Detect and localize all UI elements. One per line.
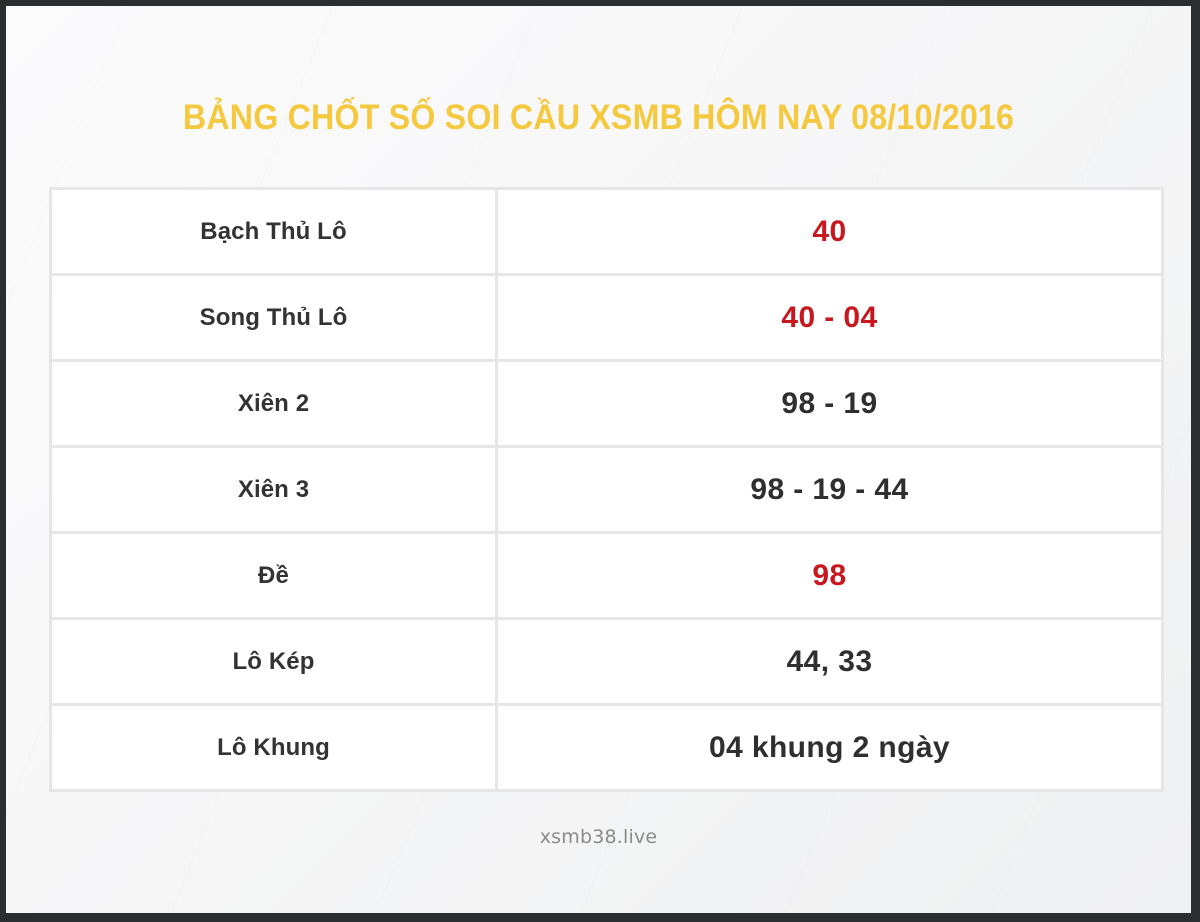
page-frame: BẢNG CHỐT SỐ SOI CẦU XSMB HÔM NAY 08/10/… [0,0,1200,922]
table-row: Đề98 [51,533,1163,619]
table-row: Xiên 398 - 19 - 44 [51,447,1163,533]
prediction-value-cell: 40 [497,189,1163,275]
table-row: Lô Khung04 khung 2 ngày [51,705,1163,791]
prediction-label-cell: Bạch Thủ Lô [51,189,497,275]
prediction-label-cell: Đề [51,533,497,619]
prediction-value-cell: 04 khung 2 ngày [497,705,1163,791]
page-canvas: BẢNG CHỐT SỐ SOI CẦU XSMB HÔM NAY 08/10/… [6,6,1191,913]
site-watermark: xsmb38.live [6,826,1191,848]
table-row: Xiên 298 - 19 [51,361,1163,447]
prediction-table-body: Bạch Thủ Lô40Song Thủ Lô40 - 04Xiên 298 … [51,189,1163,791]
prediction-value-cell: 98 [497,533,1163,619]
prediction-value-cell: 44, 33 [497,619,1163,705]
prediction-label-cell: Xiên 2 [51,361,497,447]
prediction-value-cell: 98 - 19 [497,361,1163,447]
page-title: BẢNG CHỐT SỐ SOI CẦU XSMB HÔM NAY 08/10/… [53,98,1143,138]
table-row: Bạch Thủ Lô40 [51,189,1163,275]
prediction-label-cell: Lô Kép [51,619,497,705]
prediction-label-cell: Song Thủ Lô [51,275,497,361]
prediction-value-cell: 98 - 19 - 44 [497,447,1163,533]
table-row: Song Thủ Lô40 - 04 [51,275,1163,361]
prediction-label-cell: Xiên 3 [51,447,497,533]
prediction-value-cell: 40 - 04 [497,275,1163,361]
prediction-label-cell: Lô Khung [51,705,497,791]
page-content: BẢNG CHỐT SỐ SOI CẦU XSMB HÔM NAY 08/10/… [6,6,1191,913]
table-row: Lô Kép44, 33 [51,619,1163,705]
prediction-table: Bạch Thủ Lô40Song Thủ Lô40 - 04Xiên 298 … [49,187,1164,792]
